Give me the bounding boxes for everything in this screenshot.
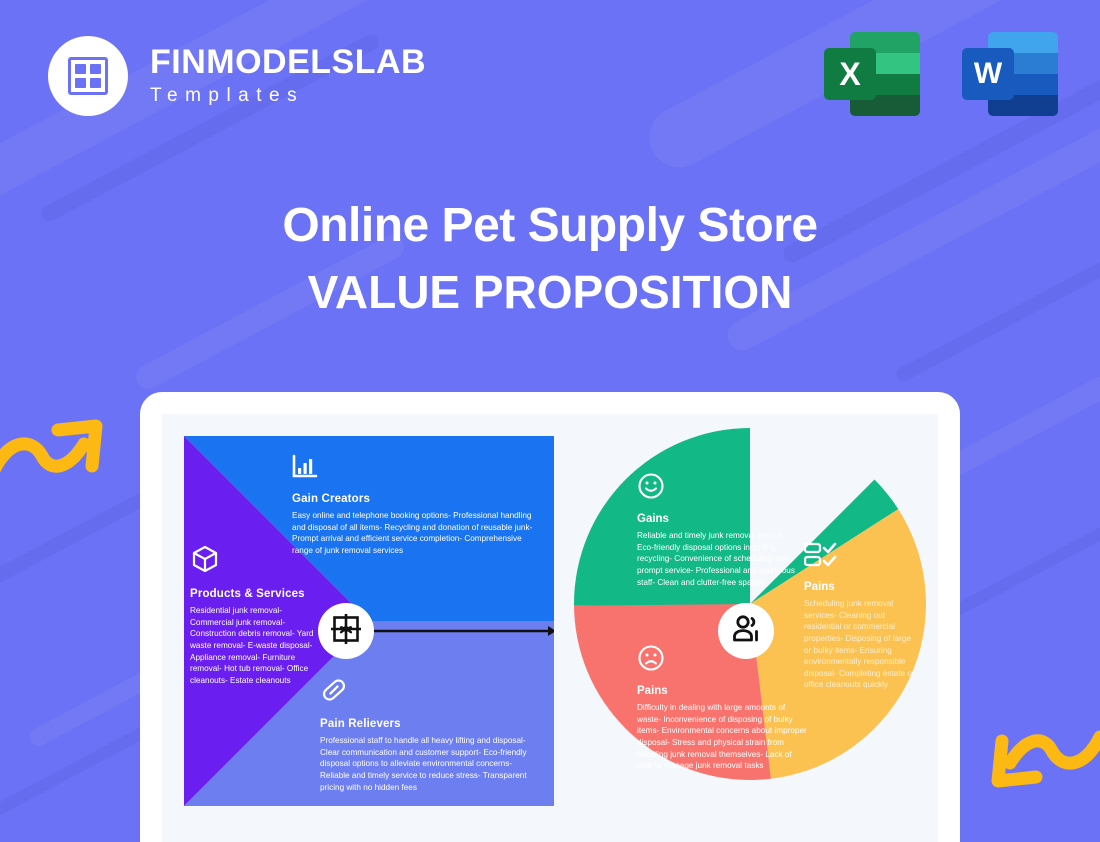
- block-title: Gain Creators: [292, 493, 535, 505]
- logo-text: FINMODELSLAB Templates: [150, 45, 426, 107]
- laptop-card: Gain Creators Easy online and telephone …: [140, 392, 960, 842]
- block-pains-right[interactable]: Pains Scheduling junk removal services- …: [804, 542, 916, 691]
- block-body: Scheduling junk removal services- Cleani…: [804, 598, 916, 691]
- logo-mark: [48, 36, 128, 116]
- page-title-group: Online Pet Supply Store VALUE PROPOSITIO…: [0, 196, 1100, 322]
- page-title: Online Pet Supply Store: [0, 196, 1100, 256]
- block-body: Professional staff to handle all heavy l…: [320, 735, 535, 793]
- block-gains[interactable]: Gains Reliable and timely junk removal s…: [637, 472, 797, 588]
- brand-name: FINMODELSLAB: [150, 45, 426, 81]
- brand-header: FINMODELSLAB Templates: [48, 36, 426, 116]
- brand-tagline: Templates: [150, 85, 426, 107]
- block-body: Difficulty in dealing with large amounts…: [637, 702, 809, 772]
- office-badges: X W: [824, 28, 1058, 120]
- grid-squares-icon: [68, 57, 108, 95]
- word-letter: W: [962, 48, 1014, 100]
- pill-capsule-icon: [320, 676, 535, 709]
- block-pains-bottom[interactable]: Pains Difficulty in dealing with large a…: [637, 644, 809, 772]
- double-headed-arrow-icon: [366, 624, 554, 636]
- block-title: Pains: [637, 685, 809, 697]
- people-users-icon: [729, 612, 763, 651]
- package-box-icon: [190, 544, 318, 579]
- excel-letter: X: [824, 48, 876, 100]
- customer-profile-center-badge[interactable]: [718, 603, 774, 659]
- block-title: Products & Services: [190, 588, 318, 600]
- excel-badge: X: [824, 28, 920, 120]
- value-map-center-badge[interactable]: [318, 603, 374, 659]
- smiley-sad-icon: [637, 644, 809, 677]
- page-subtitle: VALUE PROPOSITION: [0, 264, 1100, 322]
- block-body: Residential junk removal- Commercial jun…: [190, 605, 318, 686]
- block-title: Pain Relievers: [320, 718, 535, 730]
- block-products-services[interactable]: Products & Services Residential junk rem…: [190, 544, 318, 686]
- squiggly-arrow-down-left-icon: [974, 719, 1100, 804]
- smiley-happy-icon: [637, 472, 797, 505]
- block-pain-relievers[interactable]: Pain Relievers Professional staff to han…: [320, 676, 535, 793]
- squiggly-arrow-up-right-icon: [0, 408, 120, 493]
- gift-box-icon: [329, 612, 363, 651]
- word-badge: W: [962, 28, 1058, 120]
- block-title: Gains: [637, 513, 797, 525]
- value-proposition-canvas: Gain Creators Easy online and telephone …: [162, 414, 938, 842]
- checklist-icon: [804, 542, 916, 573]
- block-gain-creators[interactable]: Gain Creators Easy online and telephone …: [292, 454, 535, 557]
- bar-chart-icon: [292, 454, 535, 484]
- block-title: Pains: [804, 581, 916, 593]
- block-body: Easy online and telephone booking option…: [292, 510, 535, 557]
- block-body: Reliable and timely junk removal service…: [637, 530, 797, 588]
